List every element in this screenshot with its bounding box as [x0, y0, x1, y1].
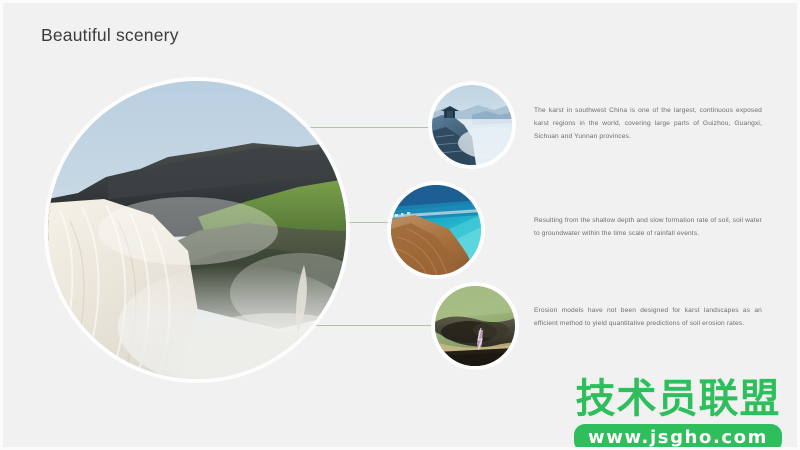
description-text-2: Resulting from the shallow depth and slo… — [534, 214, 762, 240]
connector-line-1 — [295, 127, 435, 128]
thumbnail-circle-3 — [435, 286, 515, 366]
description-text-3: Erosion models have not been designed fo… — [534, 304, 762, 330]
watermark-url-badge: www.jsgho.com — [574, 424, 782, 450]
slide-canvas: Beautiful scenery — [0, 0, 800, 450]
thumbnail-circle-2 — [391, 185, 481, 275]
hero-waterfall-image — [48, 81, 346, 379]
watermark-brand-text: 技术员联盟 — [563, 377, 793, 421]
description-text-1: The karst in southwest China is one of t… — [534, 104, 762, 143]
connector-line-3 — [294, 325, 436, 326]
watermark: 技术员联盟 www.jsgho.com — [563, 377, 793, 450]
thumbnail-circle-1 — [432, 85, 512, 165]
page-title: Beautiful scenery — [41, 25, 179, 46]
